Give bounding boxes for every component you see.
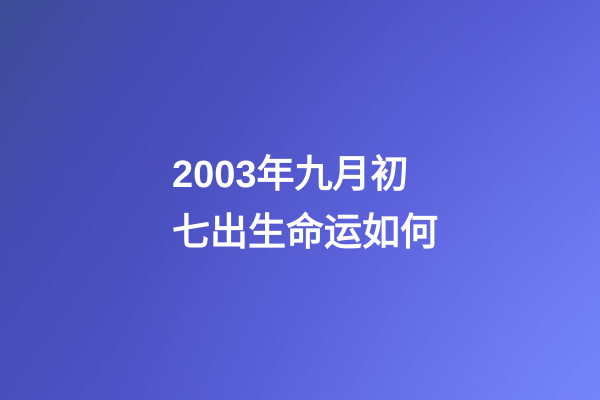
banner-image: 2003年九月初 七出生命运如何 — [0, 0, 600, 400]
page-title: 2003年九月初 七出生命运如何 — [172, 146, 472, 262]
page-title-line-2: 七出生命运如何 — [172, 204, 472, 262]
page-title-line-1: 2003年九月初 — [172, 146, 472, 204]
